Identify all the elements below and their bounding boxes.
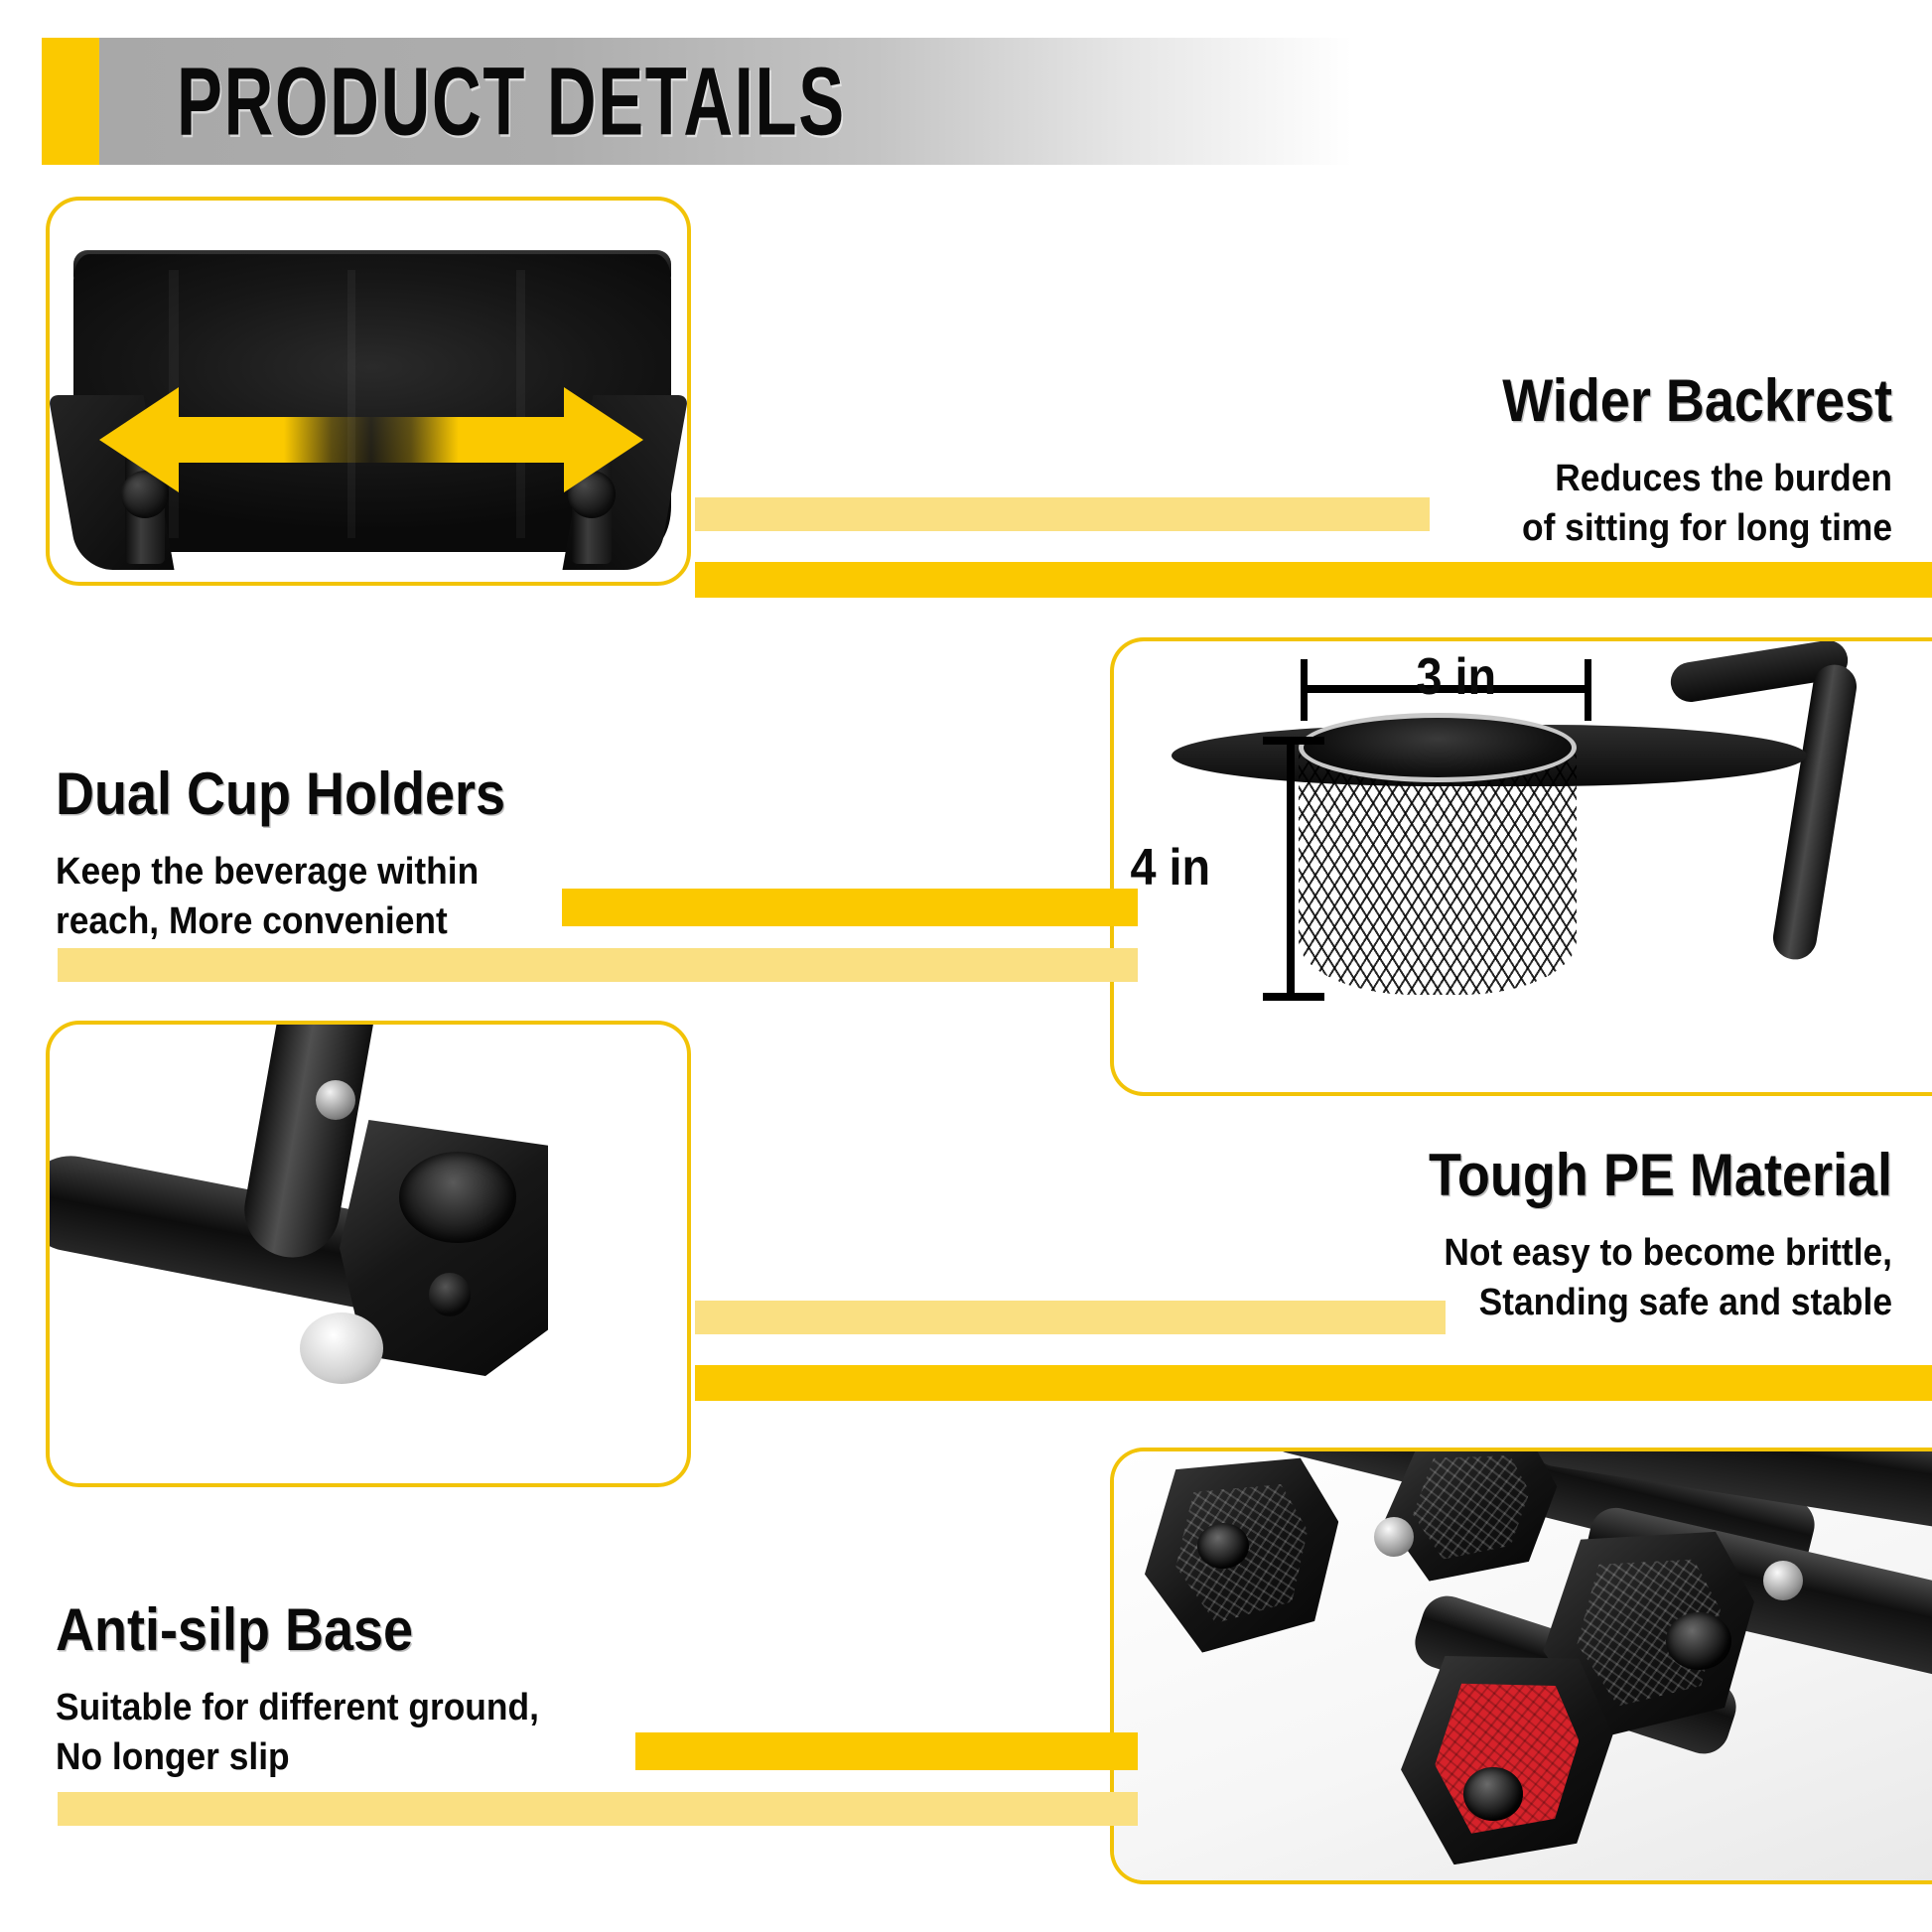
connector-bar-light <box>58 1792 1138 1826</box>
feature-subtitle-line1: Reduces the burden <box>1227 454 1892 503</box>
anti-slip-feet-photo <box>1114 1451 1932 1880</box>
arrow-shaft <box>173 417 570 463</box>
arrow-head-right <box>564 387 643 492</box>
connector-bar-bright <box>695 1365 1932 1401</box>
dim-label-depth: 4 in <box>1130 838 1210 897</box>
foot-bolt-hole <box>1463 1767 1523 1821</box>
joint-bore-hole <box>399 1152 516 1243</box>
dim-rule-vertical <box>1287 737 1295 1001</box>
connector-bar-light <box>58 948 1138 982</box>
foot-tread-pattern <box>1406 1448 1538 1563</box>
chair-backrest-photo <box>50 201 687 582</box>
chair-arm-tube <box>1770 661 1860 962</box>
connector-bar-light <box>695 1301 1446 1334</box>
joint-screw <box>316 1080 355 1120</box>
dim-tick-right <box>1585 659 1591 721</box>
dim-tick-bottom <box>1263 993 1324 1001</box>
cup-holder-opening <box>1299 713 1577 782</box>
feature-title: Anti-silp Base <box>56 1598 860 1661</box>
connector-bar-bright <box>695 562 1932 598</box>
double-headed-arrow-icon <box>99 381 643 498</box>
foot-bolt-hole <box>1666 1612 1731 1670</box>
foot-screw <box>1763 1561 1803 1600</box>
leg-joint-photo <box>50 1025 687 1483</box>
cup-holder-image-panel: 3 in 4 in <box>1110 637 1932 1096</box>
arrow-head-left <box>99 387 179 492</box>
page-header: PRODUCT DETAILS <box>42 38 1352 165</box>
connector-bar-bright <box>562 889 1138 926</box>
page-title: PRODUCT DETAILS <box>177 46 846 158</box>
connector-bar-bright <box>635 1732 1138 1770</box>
foot-screw <box>1374 1517 1414 1557</box>
feature-title: Wider Backrest <box>1249 369 1892 432</box>
feature-title: Tough PE Material <box>1124 1144 1892 1206</box>
foot-bolt-hole <box>1197 1523 1249 1569</box>
header-banner: PRODUCT DETAILS <box>99 38 1352 165</box>
joint-pin-hole <box>429 1273 471 1316</box>
cup-holder-mesh <box>1299 747 1577 995</box>
tube-end-cap <box>300 1312 383 1384</box>
feature-title: Dual Cup Holders <box>56 762 770 825</box>
mesh-cup-holder-photo: 3 in 4 in <box>1114 641 1932 1092</box>
dim-label-width: 3 in <box>1416 647 1496 707</box>
feature-subtitle-line1: Not easy to become brittle, <box>1098 1228 1892 1278</box>
connector-bar-light <box>695 497 1430 531</box>
feature-subtitle-line1: Suitable for different ground, <box>56 1683 887 1732</box>
anti-slip-feet-image-panel <box>1110 1448 1932 1884</box>
backrest-image-panel <box>46 197 691 586</box>
leg-joint-image-panel <box>46 1021 691 1487</box>
header-accent-bar <box>42 38 99 165</box>
